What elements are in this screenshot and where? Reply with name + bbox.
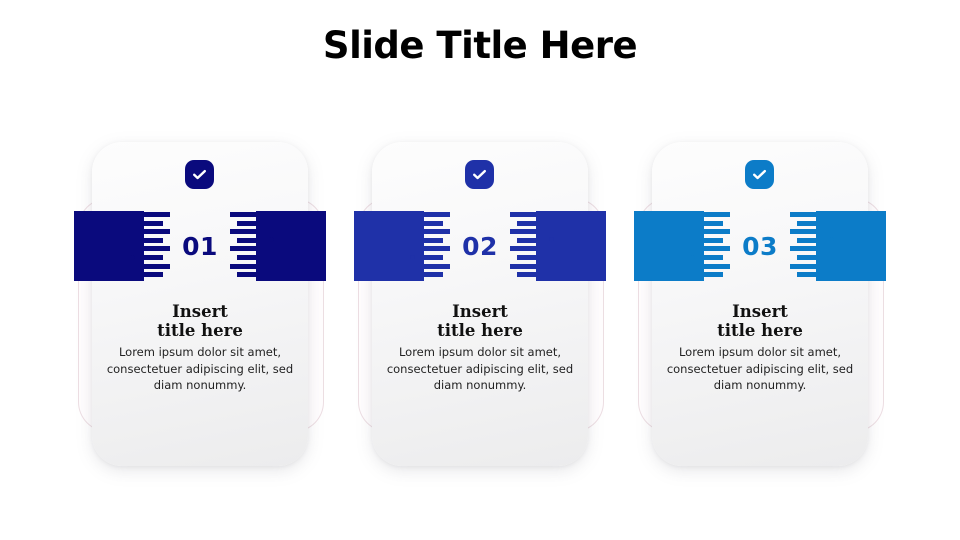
card-heading: Insert title here (660, 302, 860, 341)
card-body-text: Lorem ipsum dolor sit amet, consectetuer… (380, 344, 580, 394)
card-heading-line2: title here (717, 321, 803, 340)
card-body-text: Lorem ipsum dolor sit amet, consectetuer… (100, 344, 300, 394)
slide-canvas: Slide Title Here Insert title here Lorem… (0, 0, 960, 540)
cards-row: Insert title here Lorem ipsum dolor sit … (0, 0, 960, 540)
check-icon (751, 166, 768, 183)
card-number: 01 (92, 211, 308, 281)
card-number: 03 (652, 211, 868, 281)
card-heading-line1: Insert (172, 302, 228, 321)
card-heading-line2: title here (437, 321, 523, 340)
card-item[interactable]: Insert title here Lorem ipsum dolor sit … (372, 142, 588, 466)
card-number: 02 (372, 211, 588, 281)
check-icon (191, 166, 208, 183)
card-heading: Insert title here (380, 302, 580, 341)
card-heading: Insert title here (100, 302, 300, 341)
check-badge[interactable] (465, 160, 494, 189)
card-item[interactable]: Insert title here Lorem ipsum dolor sit … (92, 142, 308, 466)
check-icon (471, 166, 488, 183)
card-heading-line1: Insert (452, 302, 508, 321)
card-heading-line2: title here (157, 321, 243, 340)
check-badge[interactable] (745, 160, 774, 189)
card-item[interactable]: Insert title here Lorem ipsum dolor sit … (652, 142, 868, 466)
card-body-text: Lorem ipsum dolor sit amet, consectetuer… (660, 344, 860, 394)
check-badge[interactable] (185, 160, 214, 189)
card-heading-line1: Insert (732, 302, 788, 321)
